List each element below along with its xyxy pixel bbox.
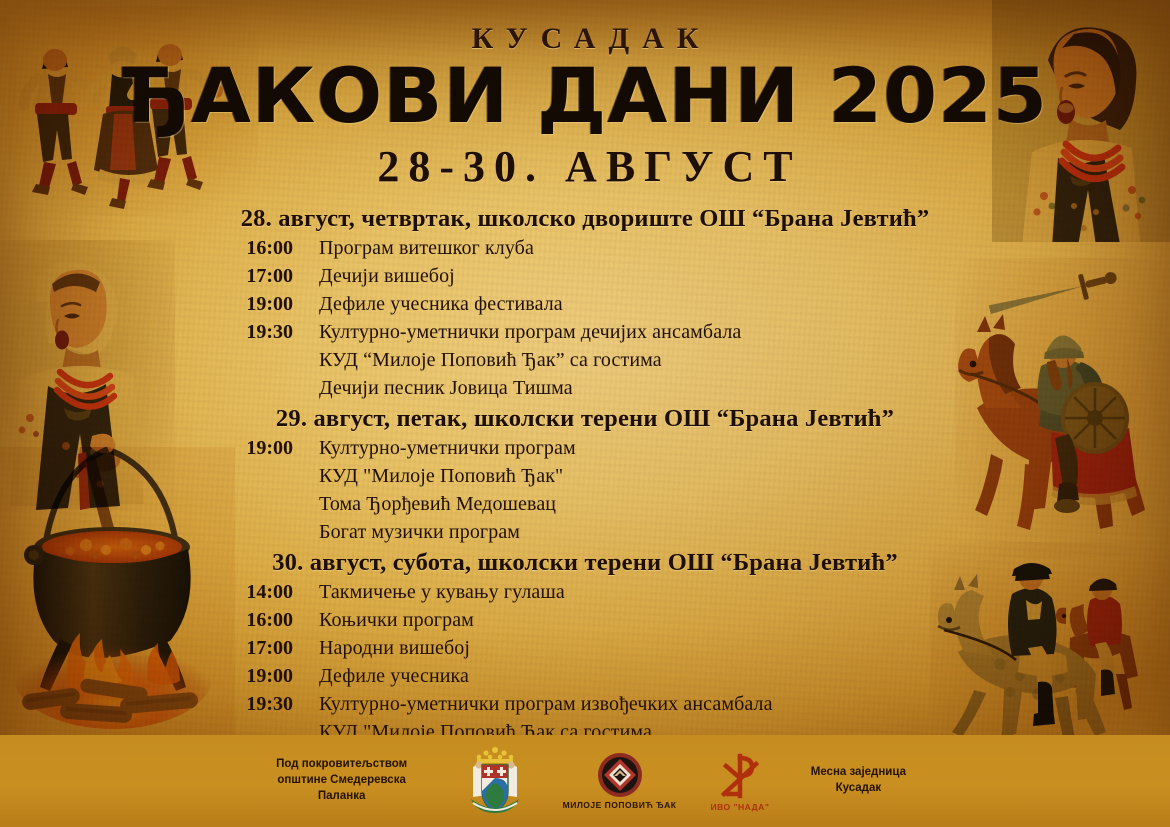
schedule-desc: Богат музички програм bbox=[319, 521, 520, 544]
schedule-desc: КУД “Милоје Поповић Ђак” са гостима bbox=[319, 349, 662, 372]
schedule-row: 19:00 Културно-уметнички програм bbox=[175, 437, 995, 460]
schedule-time: 19:30 bbox=[175, 321, 319, 344]
schedule-row: 16:00 Програм витешког клуба bbox=[175, 237, 995, 260]
program-day: 28. август, четвртак, школско двориште О… bbox=[175, 205, 995, 400]
schedule-desc: Тома Ђорђевић Медошевац bbox=[319, 493, 556, 516]
schedule-desc: Такмичење у кувању гулаша bbox=[319, 581, 565, 604]
day-item-list: 19:00 Културно-уметнички програм КУД "Ми… bbox=[175, 437, 995, 544]
ivo-logo-caption: ИВО "НАДА" bbox=[711, 802, 770, 812]
date-range: 28-30. АВГУСТ bbox=[0, 141, 1170, 192]
schedule-desc: Коњички програм bbox=[319, 609, 474, 632]
day-heading: 28. август, четвртак, школско двориште О… bbox=[175, 205, 995, 233]
schedule-desc: Културно-уметнички програм дечијих ансам… bbox=[319, 321, 741, 344]
schedule-desc: Народни вишебој bbox=[319, 637, 470, 660]
schedule-row: 19:30 Културно-уметнички програм дечијих… bbox=[175, 321, 995, 344]
schedule-time: 19:30 bbox=[175, 693, 319, 716]
coat-of-arms-icon bbox=[461, 745, 529, 817]
day-item-list: 14:00 Такмичење у кувању гулаша 16:00 Ко… bbox=[175, 581, 995, 744]
schedule-desc: Програм витешког клуба bbox=[319, 237, 534, 260]
schedule-time: 17:00 bbox=[175, 637, 319, 660]
page-title: ЂАКОВИ ДАНИ 2025 bbox=[0, 60, 1170, 133]
schedule-desc: Дефиле учесника bbox=[319, 665, 469, 688]
schedule-row: 17:00 Народни вишебој bbox=[175, 637, 995, 660]
festival-poster: КУСАДАК ЂАКОВИ ДАНИ 2025 28-30. АВГУСТ 2… bbox=[0, 0, 1170, 827]
schedule-time: 14:00 bbox=[175, 581, 319, 604]
kud-logo-caption: МИЛОЈЕ ПОПОВИЋ ЂАК bbox=[563, 800, 677, 810]
program-day: 30. август, субота, школски терени ОШ “Б… bbox=[175, 549, 995, 744]
schedule-time: 19:00 bbox=[175, 437, 319, 460]
schedule-row: 16:00 Коњички програм bbox=[175, 609, 995, 632]
schedule-time: 16:00 bbox=[175, 609, 319, 632]
schedule-desc: Културно-уметнички програм извођечких ан… bbox=[319, 693, 773, 716]
schedule-row: 19:00 Дефиле учесника bbox=[175, 665, 995, 688]
schedule-time: 17:00 bbox=[175, 265, 319, 288]
day-heading: 29. август, петак, школски терени ОШ “Бр… bbox=[175, 405, 995, 433]
schedule-desc: Дефиле учесника фестивала bbox=[319, 293, 563, 316]
poster-header: КУСАДАК ЂАКОВИ ДАНИ 2025 28-30. АВГУСТ bbox=[0, 22, 1170, 192]
schedule-row: 17:00 Дечији вишебој bbox=[175, 265, 995, 288]
kud-logo: МИЛОЈЕ ПОПОВИЋ ЂАК bbox=[563, 752, 677, 810]
municipality-crest-logo bbox=[461, 745, 529, 817]
schedule-desc: КУД "Милоје Поповић Ђак" bbox=[319, 465, 563, 488]
schedule-row: КУД "Милоје Поповић Ђак" bbox=[175, 465, 995, 488]
sponsor-text: Под покровитељством општине Смедеревска … bbox=[257, 757, 427, 805]
chi-rho-icon bbox=[718, 750, 762, 800]
program-schedule: 28. август, четвртак, школско двориште О… bbox=[175, 200, 995, 749]
schedule-row: Тома Ђорђевић Медошевац bbox=[175, 493, 995, 516]
schedule-row: Богат музички програм bbox=[175, 521, 995, 544]
program-day: 29. август, петак, школски терени ОШ “Бр… bbox=[175, 405, 995, 544]
schedule-row: 19:00 Дефиле учесника фестивала bbox=[175, 293, 995, 316]
schedule-desc: Културно-уметнички програм bbox=[319, 437, 576, 460]
schedule-time: 16:00 bbox=[175, 237, 319, 260]
community-text: Месна заједница Кусадак bbox=[803, 765, 913, 797]
schedule-time: 19:00 bbox=[175, 293, 319, 316]
schedule-row: КУД “Милоје Поповић Ђак” са гостима bbox=[175, 349, 995, 372]
ivo-nada-logo: ИВО "НАДА" bbox=[711, 750, 770, 812]
schedule-desc: Дечији песник Јовица Тишма bbox=[319, 377, 573, 400]
schedule-time: 19:00 bbox=[175, 665, 319, 688]
schedule-row: Дечији песник Јовица Тишма bbox=[175, 377, 995, 400]
day-heading: 30. август, субота, школски терени ОШ “Б… bbox=[175, 549, 995, 577]
sponsor-footer: Под покровитељством општине Смедеревска … bbox=[0, 735, 1170, 827]
day-item-list: 16:00 Програм витешког клуба 17:00 Дечиј… bbox=[175, 237, 995, 400]
schedule-desc: Дечији вишебој bbox=[319, 265, 455, 288]
schedule-row: 19:30 Културно-уметнички програм извођеч… bbox=[175, 693, 995, 716]
schedule-row: 14:00 Такмичење у кувању гулаша bbox=[175, 581, 995, 604]
kud-emblem-icon bbox=[597, 752, 643, 798]
